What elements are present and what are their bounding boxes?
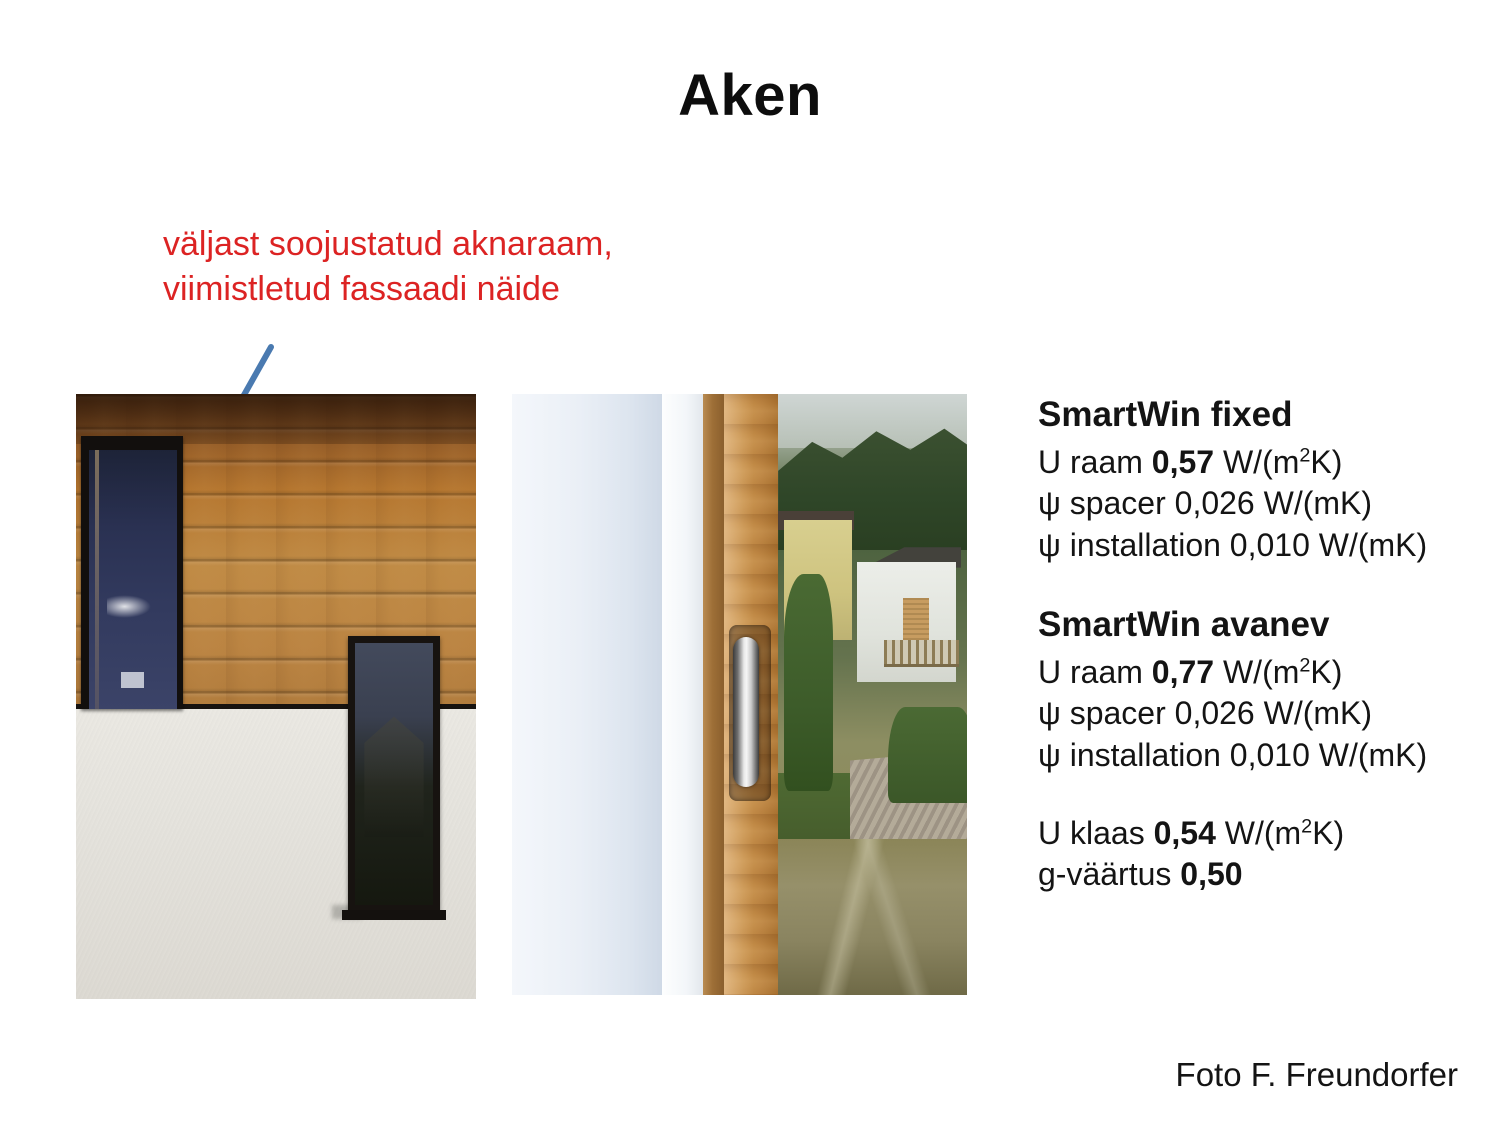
spec-exponent: 2 bbox=[1301, 815, 1312, 837]
outdoor-view bbox=[778, 394, 967, 995]
spec-prefix: U raam bbox=[1038, 444, 1152, 480]
spec-exponent: 2 bbox=[1299, 654, 1310, 676]
spec-suffix: W/(m bbox=[1214, 654, 1299, 690]
bare-ground bbox=[778, 839, 967, 995]
spec-tail: K) bbox=[1310, 444, 1342, 480]
annotation-line-2: viimistletud fassaadi näide bbox=[163, 267, 783, 312]
photo-credit: Foto F. Freundorfer bbox=[0, 1056, 1458, 1094]
spec-tail: K) bbox=[1312, 815, 1344, 851]
annotation-line-1: väljast soojustatud aknaraam, bbox=[163, 222, 783, 267]
spec-heading: SmartWin avanev bbox=[1038, 602, 1488, 648]
presentation-slide: Aken väljast soojustatud aknaraam, viimi… bbox=[0, 0, 1500, 1125]
small-window-frame bbox=[348, 636, 440, 914]
light-reflection bbox=[121, 672, 144, 687]
spec-group-smartwin-avanev: SmartWin avanev U raam 0,77 W/(m2K) ψ sp… bbox=[1038, 602, 1488, 776]
hedge-right bbox=[888, 707, 967, 803]
interior-wall bbox=[512, 394, 662, 995]
spec-line-u-raam: U raam 0,77 W/(m2K) bbox=[1038, 652, 1488, 694]
spec-line-psi-spacer: ψ spacer 0,026 W/(mK) bbox=[1038, 483, 1488, 525]
spec-line-psi-installation: ψ installation 0,010 W/(mK) bbox=[1038, 735, 1488, 777]
house-reflection bbox=[364, 716, 423, 837]
ground-tracks bbox=[778, 839, 967, 995]
page-title: Aken bbox=[0, 62, 1500, 129]
spec-group-smartwin-fixed: SmartWin fixed U raam 0,57 W/(m2K) ψ spa… bbox=[1038, 392, 1488, 566]
spec-prefix: g-väärtus bbox=[1038, 856, 1180, 892]
spec-group-glass: U klaas 0,54 W/(m2K) g-väärtus 0,50 bbox=[1038, 813, 1488, 896]
spec-tail: K) bbox=[1310, 654, 1342, 690]
spec-heading: SmartWin fixed bbox=[1038, 392, 1488, 438]
spec-value: 0,50 bbox=[1180, 856, 1242, 892]
spec-value: 0,57 bbox=[1152, 444, 1214, 480]
spec-line-u-raam: U raam 0,57 W/(m2K) bbox=[1038, 442, 1488, 484]
window-frame-edge bbox=[703, 394, 723, 995]
wooden-shutter bbox=[903, 598, 929, 640]
window-handle[interactable] bbox=[733, 637, 759, 787]
annotation-text: väljast soojustatud aknaraam, viimistlet… bbox=[163, 222, 783, 312]
specification-panel: SmartWin fixed U raam 0,57 W/(m2K) ψ spa… bbox=[1038, 392, 1488, 896]
small-window-glass bbox=[355, 643, 433, 905]
hedge-left bbox=[784, 574, 833, 790]
spec-prefix: U raam bbox=[1038, 654, 1152, 690]
interior-window-photo bbox=[512, 394, 967, 995]
spec-value: 0,77 bbox=[1152, 654, 1214, 690]
window-sill bbox=[342, 910, 446, 920]
spec-line-psi-spacer: ψ spacer 0,026 W/(mK) bbox=[1038, 693, 1488, 735]
spec-suffix: W/(m bbox=[1216, 815, 1301, 851]
spec-line-u-klaas: U klaas 0,54 W/(m2K) bbox=[1038, 813, 1488, 855]
spec-suffix: W/(m bbox=[1214, 444, 1299, 480]
tall-window-glass bbox=[89, 450, 177, 708]
spec-line-psi-installation: ψ installation 0,010 W/(mK) bbox=[1038, 525, 1488, 567]
spec-exponent: 2 bbox=[1299, 444, 1310, 466]
window-reveal bbox=[662, 394, 703, 995]
tall-window-frame bbox=[81, 436, 183, 708]
exterior-facade-photo bbox=[76, 394, 476, 999]
spec-value: 0,54 bbox=[1154, 815, 1216, 851]
cloud-reflection bbox=[107, 595, 151, 618]
spec-line-g-vaartus: g-väärtus 0,50 bbox=[1038, 854, 1488, 896]
spec-prefix: U klaas bbox=[1038, 815, 1154, 851]
balcony-railing bbox=[884, 640, 960, 667]
